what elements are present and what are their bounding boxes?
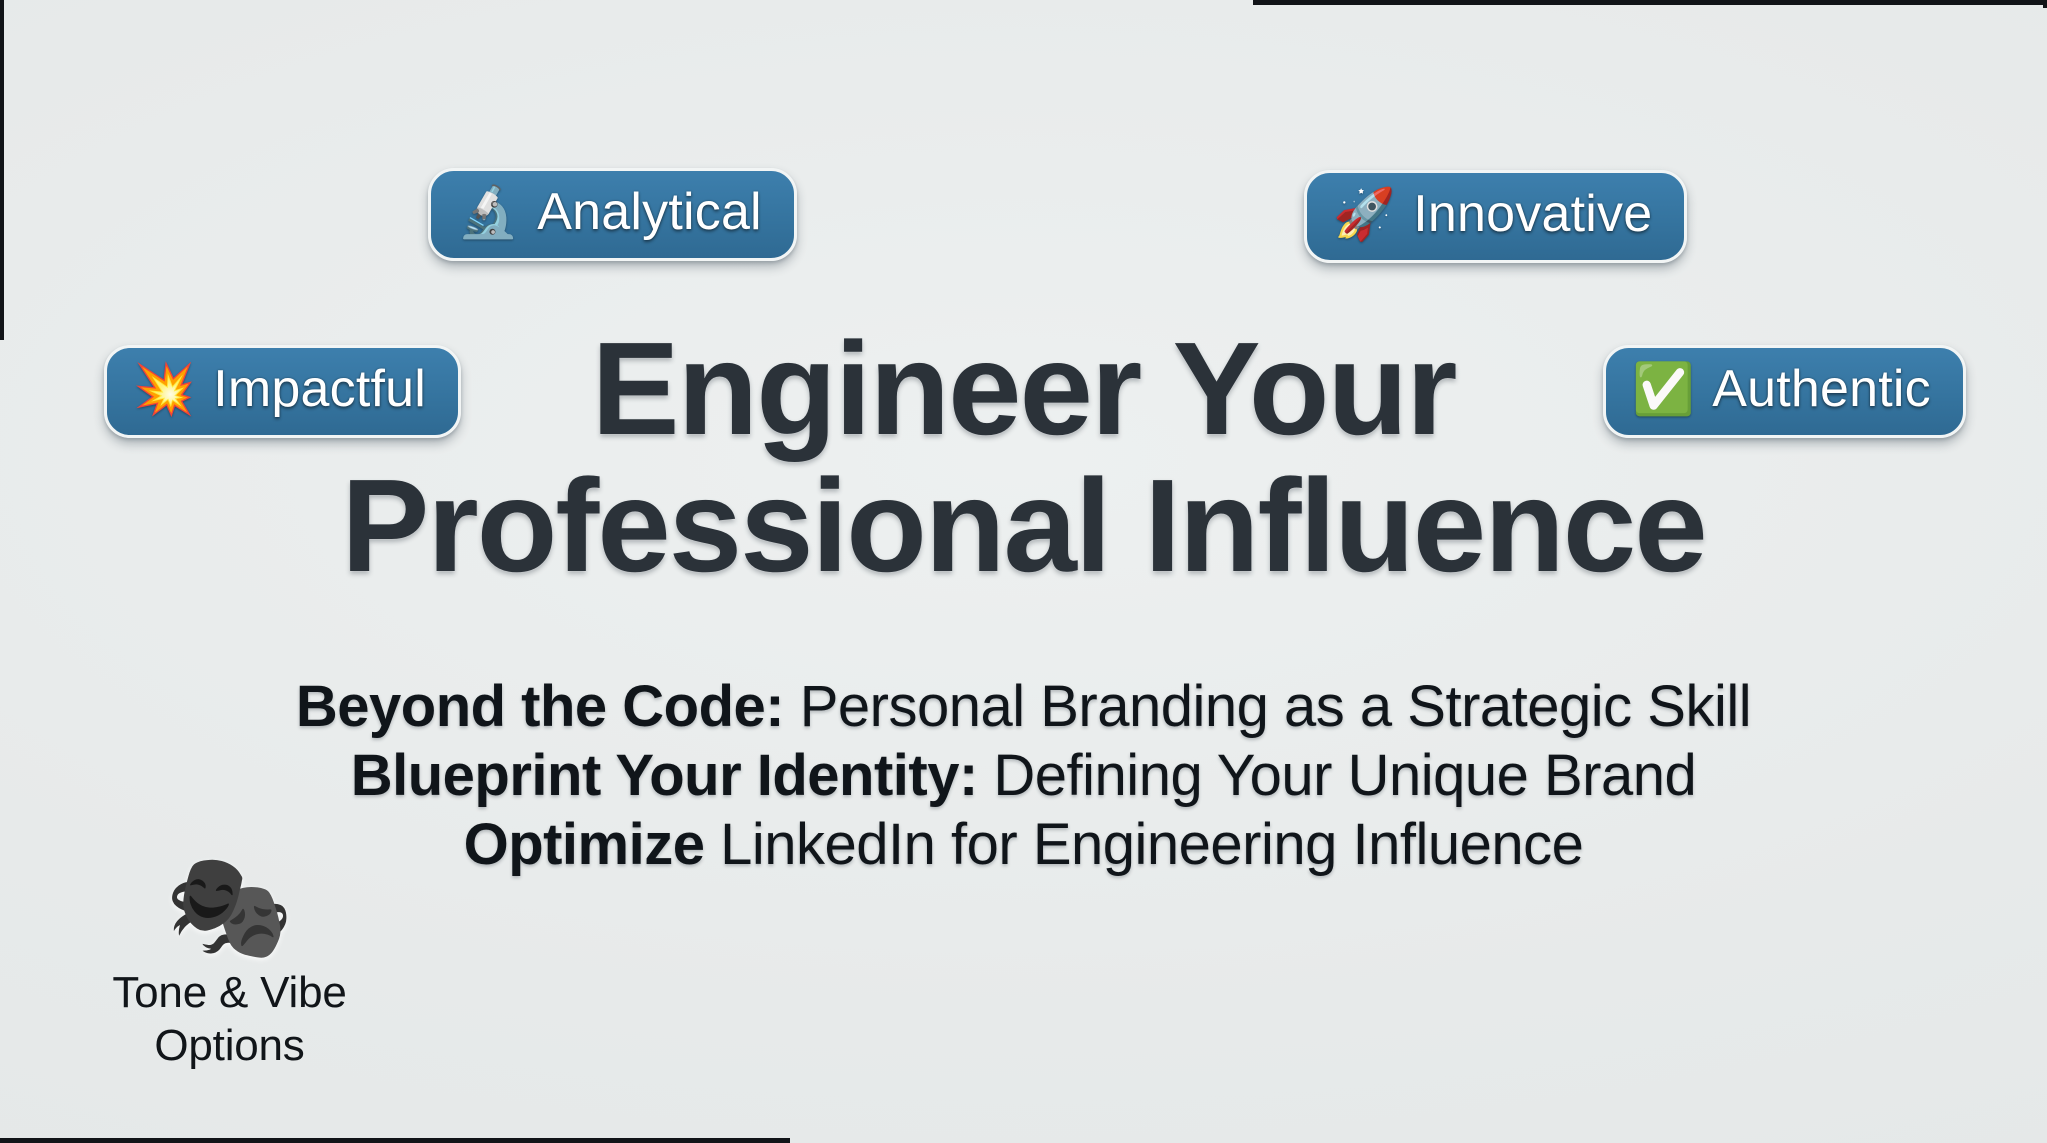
microscope-icon: 🔬 — [457, 187, 519, 237]
agenda-item: Beyond the Code: Personal Branding as a … — [0, 672, 2047, 741]
tone-vibe-options[interactable]: 🎭 Tone & Vibe Options — [97, 855, 362, 1073]
tone-pill-label: Innovative — [1413, 187, 1652, 242]
performing-arts-masks-icon: 🎭 — [97, 855, 362, 959]
slide-canvas: 🔬 Analytical 🚀 Innovative 💥 Impactful ✅ … — [0, 0, 2047, 1143]
frame-edge-bottom — [0, 1138, 790, 1143]
agenda-item-lead: Blueprint Your Identity: — [351, 743, 978, 808]
frame-edge-right — [2043, 0, 2047, 8]
agenda-item-lead: Optimize — [464, 812, 705, 877]
agenda-item-rest: Personal Branding as a Strategic Skill — [784, 674, 1751, 739]
tone-pill-label: Analytical — [537, 185, 762, 240]
agenda-item-rest: LinkedIn for Engineering Influence — [705, 812, 1584, 877]
tone-pill-innovative[interactable]: 🚀 Innovative — [1304, 170, 1687, 263]
frame-edge-left — [0, 0, 4, 340]
tone-vibe-options-label-line-2: Options — [97, 1020, 362, 1073]
tone-vibe-options-label-line-1: Tone & Vibe — [97, 967, 362, 1020]
tone-pill-analytical[interactable]: 🔬 Analytical — [428, 168, 797, 261]
page-title-line-1: Engineer Your — [0, 320, 2047, 457]
rocket-icon: 🚀 — [1333, 189, 1395, 239]
page-title: Engineer Your Professional Influence — [0, 320, 2047, 595]
agenda-item-rest: Defining Your Unique Brand — [978, 743, 1696, 808]
agenda-list: Beyond the Code: Personal Branding as a … — [0, 672, 2047, 879]
agenda-item-lead: Beyond the Code: — [296, 674, 784, 739]
page-title-line-2: Professional Influence — [0, 457, 2047, 594]
frame-edge-top — [1253, 0, 2047, 5]
agenda-item: Blueprint Your Identity: Defining Your U… — [0, 741, 2047, 810]
